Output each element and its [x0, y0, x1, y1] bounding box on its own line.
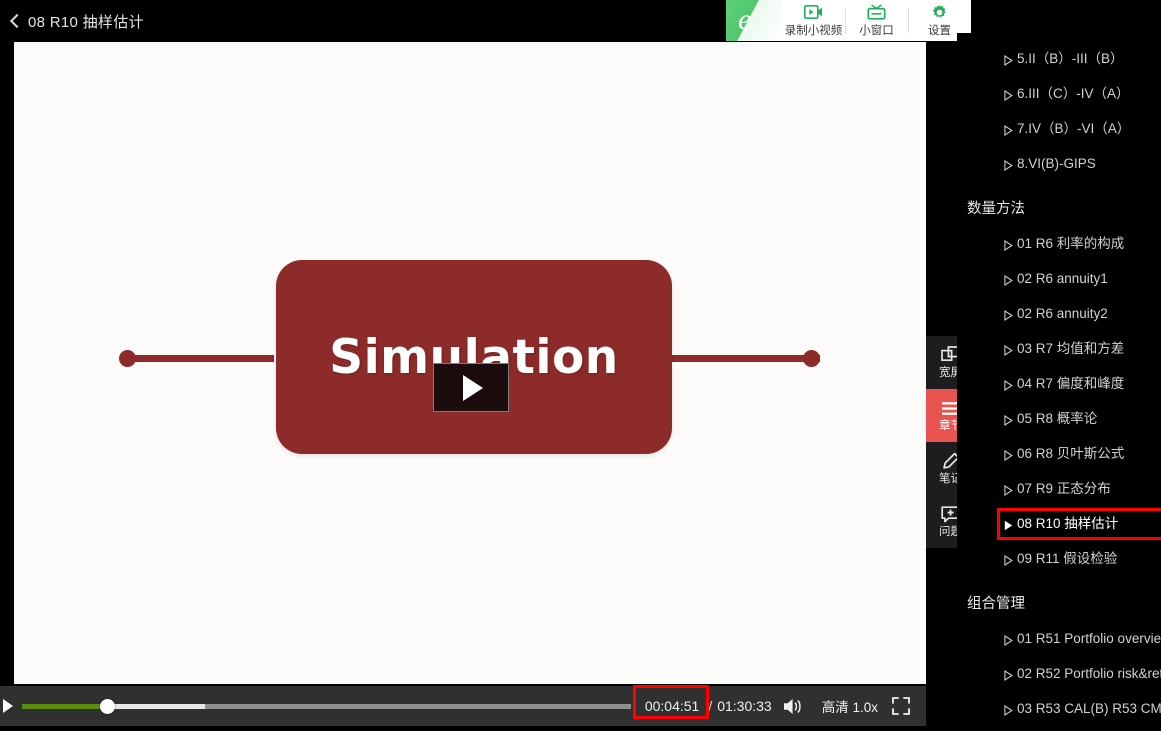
toolbar-item-label: 小窗口	[859, 22, 894, 38]
tv-window-icon	[867, 4, 886, 21]
play-outline-icon	[1004, 668, 1013, 679]
video-camera-icon	[804, 4, 823, 21]
play-outline-icon	[1004, 483, 1013, 494]
chapter-item-label: 03 R53 CAL(B) R53 CML C	[1017, 700, 1161, 717]
chapter-list-item[interactable]: 01 R51 Portfolio overview	[957, 621, 1161, 656]
toolbar-item-small-window[interactable]: 小窗口	[845, 0, 908, 41]
total-time: 01:30:33	[717, 698, 772, 714]
chapter-item-label: 05 R8 概率论	[1017, 410, 1097, 427]
play-outline-icon	[1004, 703, 1013, 714]
speaker-icon[interactable]	[782, 697, 806, 716]
chapter-item-label: 07 R9 正态分布	[1017, 480, 1111, 497]
chapter-list-item[interactable]: 03 R53 CAL(B) R53 CML C	[957, 691, 1161, 726]
play-triangle-icon	[463, 375, 483, 401]
quality-selector[interactable]: 高清 1.0x	[822, 696, 878, 716]
play-outline-icon	[1004, 633, 1013, 644]
toolbar-item-record-video[interactable]: 录制小视频	[782, 0, 845, 41]
chapter-list-item[interactable]: 01 R6 利率的构成	[957, 226, 1161, 261]
title-group: 08 R10 抽样估计	[8, 0, 144, 42]
time-display: 00:04:51 / 01:30:33	[641, 696, 772, 716]
chapter-item-label: 06 R8 贝叶斯公式	[1017, 445, 1124, 462]
video-course-player-window: 08 R10 抽样估计 e 录制小视频	[0, 0, 1161, 731]
chapter-list-item[interactable]: 04 R7 偏度和峰度	[957, 366, 1161, 401]
play-outline-icon	[1004, 343, 1013, 354]
play-filled-icon	[1004, 518, 1013, 529]
player-control-bar: 00:04:51 / 01:30:33 高清 1.0x	[0, 686, 926, 726]
ie-logo-glyph: e	[738, 4, 751, 36]
play-outline-icon	[1004, 378, 1013, 389]
chapter-item-label: 02 R52 Portfolio risk&return	[1017, 665, 1161, 682]
chapter-list-item[interactable]: 02 R52 Portfolio risk&return	[957, 656, 1161, 691]
chapter-item-label: 01 R51 Portfolio overview	[1017, 630, 1161, 647]
browser-toolbar: e 录制小视频	[726, 0, 971, 41]
play-outline-icon	[1004, 238, 1013, 249]
fullscreen-icon[interactable]	[892, 697, 910, 715]
simulation-box: Simulation	[276, 260, 672, 454]
chapter-item-label: 5.II（B）-III（B）	[1017, 50, 1124, 67]
play-outline-icon	[1004, 158, 1013, 169]
chapter-item-label: 6.III（C）-IV（A）	[1017, 85, 1130, 102]
play-outline-icon	[1004, 448, 1013, 459]
connector-line-right	[672, 355, 820, 362]
play-outline-icon	[1004, 53, 1013, 64]
play-icon[interactable]	[3, 699, 13, 713]
chapter-list-item[interactable]: 09 R11 假设检验	[957, 541, 1161, 576]
chapter-list-item[interactable]: 07 R9 正态分布	[957, 471, 1161, 506]
play-outline-icon	[1004, 88, 1013, 99]
toolbar-item-label: 录制小视频	[785, 22, 843, 38]
connector-dot-right	[803, 350, 820, 367]
chapter-item-label: 09 R11 假设检验	[1017, 550, 1117, 567]
chapter-list-item[interactable]: 08 R10 抽样估计	[957, 506, 1161, 541]
progress-bar-track[interactable]	[22, 704, 631, 709]
chapter-item-label: 02 R6 annuity1	[1017, 270, 1108, 287]
chapter-section-heading: 数量方法	[957, 181, 1161, 226]
chapter-list-item[interactable]: 02 R6 annuity2	[957, 296, 1161, 331]
chapter-item-label: 7.IV（B）-VI（A）	[1017, 120, 1130, 137]
chapter-item-label: 08 R10 抽样估计	[1017, 515, 1118, 532]
chapter-sidebar[interactable]: 5.II（B）-III（B）6.III（C）-IV（A）7.IV（B）-VI（A…	[957, 33, 1161, 731]
progress-handle[interactable]	[100, 699, 115, 714]
play-outline-icon	[1004, 553, 1013, 564]
chapter-item-label: 04 R7 偏度和峰度	[1017, 375, 1124, 392]
chapter-list-item[interactable]: 02 R6 annuity1	[957, 261, 1161, 296]
chapter-list-item[interactable]: 05 R8 概率论	[957, 401, 1161, 436]
chapter-list-item[interactable]: 5.II（B）-III（B）	[957, 41, 1161, 76]
chapter-list-item[interactable]: 06 R8 贝叶斯公式	[957, 436, 1161, 471]
chapter-list: 5.II（B）-III（B）6.III（C）-IV（A）7.IV（B）-VI（A…	[957, 33, 1161, 726]
current-time-text: 00:04:51	[645, 698, 700, 714]
back-chevron-icon[interactable]	[8, 13, 22, 29]
current-time: 00:04:51	[641, 696, 704, 716]
video-stage[interactable]: Simulation	[14, 42, 926, 684]
ie-browser-logo[interactable]: e	[726, 0, 782, 41]
video-play-overlay-button[interactable]	[433, 363, 509, 412]
time-separator: /	[708, 698, 712, 714]
toolbar-item-label: 设置	[928, 22, 951, 38]
chapter-list-item[interactable]: 03 R7 均值和方差	[957, 331, 1161, 366]
play-outline-icon	[1004, 273, 1013, 284]
chapter-list-item[interactable]: 7.IV（B）-VI（A）	[957, 111, 1161, 146]
chapter-item-label: 03 R7 均值和方差	[1017, 340, 1124, 357]
gear-icon	[931, 4, 948, 21]
play-outline-icon	[1004, 308, 1013, 319]
connector-dot-left	[119, 350, 136, 367]
chapter-section-heading: 组合管理	[957, 576, 1161, 621]
play-outline-icon	[1004, 123, 1013, 134]
play-outline-icon	[1004, 413, 1013, 424]
chapter-list-item[interactable]: 6.III（C）-IV（A）	[957, 76, 1161, 111]
page-title: 08 R10 抽样估计	[28, 11, 144, 32]
chapter-list-item[interactable]: 8.VI(B)-GIPS	[957, 146, 1161, 181]
chapter-item-label: 8.VI(B)-GIPS	[1017, 155, 1096, 172]
progress-played	[22, 704, 107, 709]
connector-line-left	[126, 355, 274, 362]
spacer	[957, 33, 1161, 41]
chapter-item-label: 02 R6 annuity2	[1017, 305, 1108, 322]
chapter-item-label: 01 R6 利率的构成	[1017, 235, 1124, 252]
